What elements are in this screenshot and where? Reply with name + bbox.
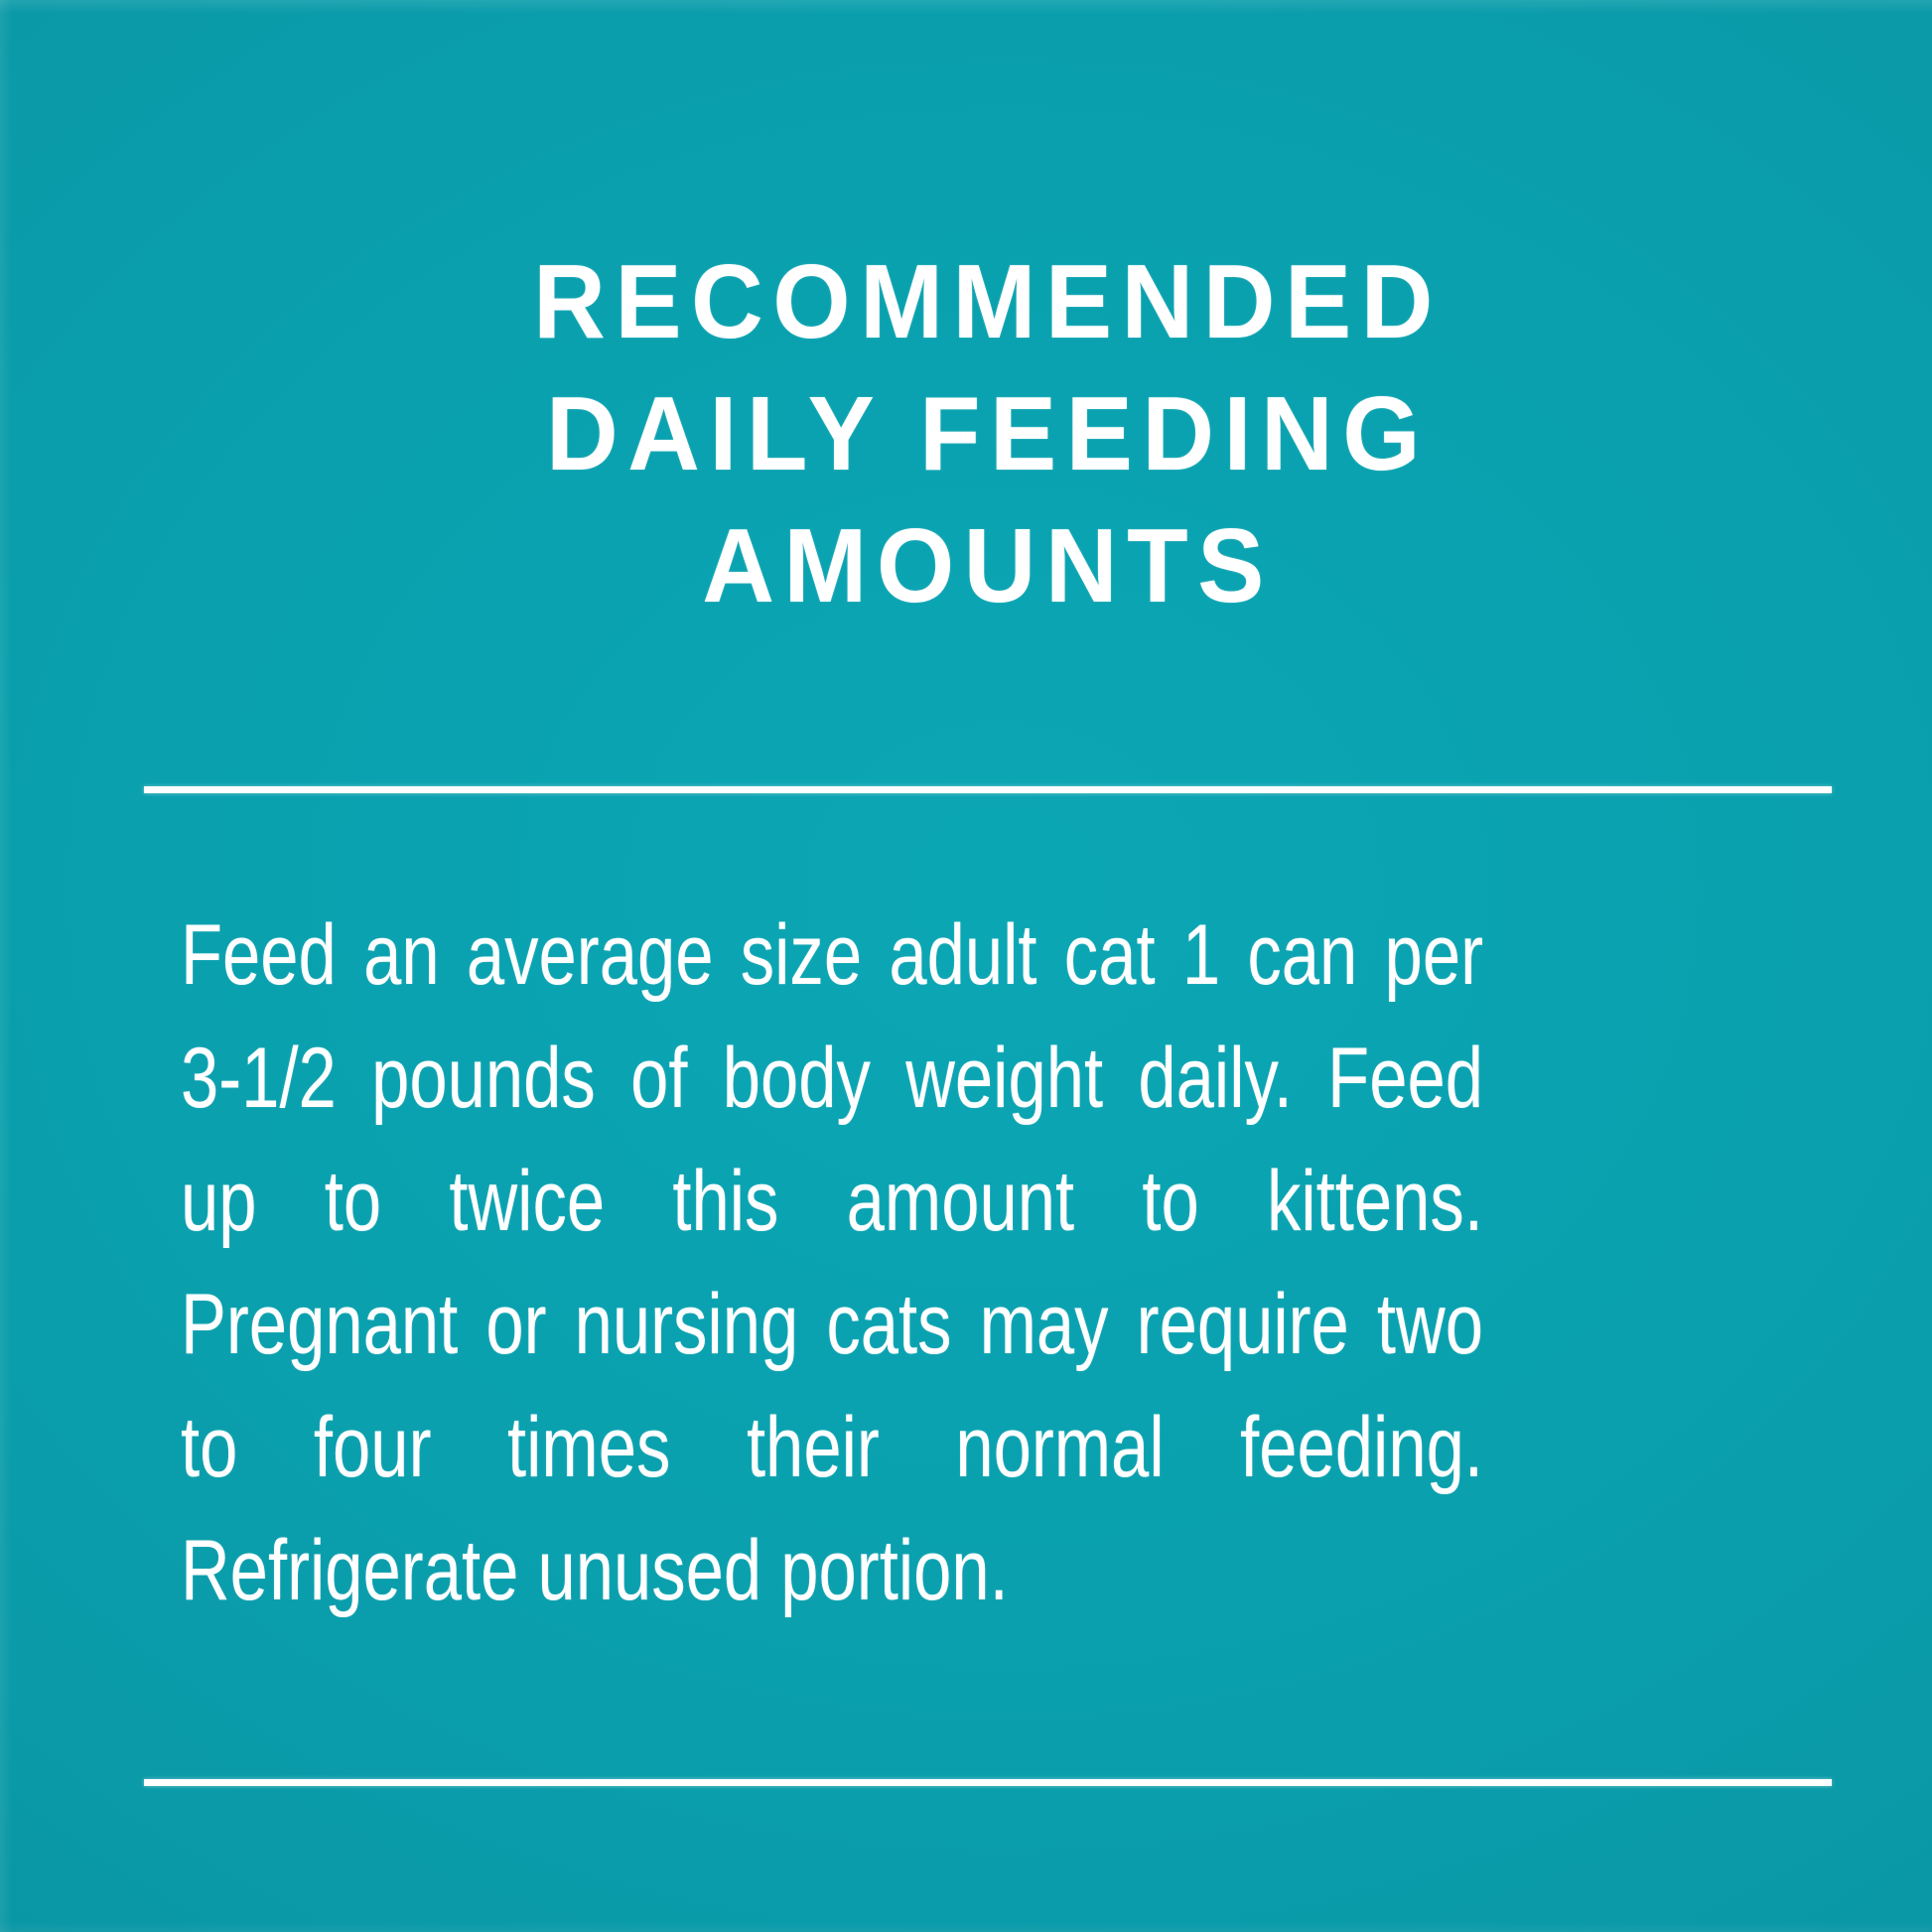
body-word: to	[181, 1386, 237, 1509]
body-word: 3-1/2	[181, 1017, 337, 1140]
body-word: 1	[1182, 894, 1220, 1017]
body-word: feeding.	[1240, 1386, 1483, 1509]
body-word: four	[314, 1386, 432, 1509]
body-word: weight	[905, 1017, 1103, 1140]
body-word: times	[507, 1386, 670, 1509]
body-word: average	[467, 894, 714, 1017]
body-word: of	[630, 1017, 687, 1140]
page-title-line-1: RECOMMENDED	[187, 236, 1790, 368]
body-line: uptotwicethisamounttokittens.	[181, 1140, 1483, 1263]
body-line: Pregnantornursingcatsmayrequiretwo	[181, 1263, 1483, 1386]
body-line: Refrigerate unused portion.	[181, 1509, 1483, 1632]
body-word: kittens.	[1267, 1140, 1483, 1263]
body-word: two	[1377, 1263, 1483, 1386]
body-word: require	[1137, 1263, 1349, 1386]
body-word: Feed	[1327, 1017, 1483, 1140]
body-word: Feed	[181, 894, 337, 1017]
body-word: an	[363, 894, 440, 1017]
body-word: adult	[889, 894, 1036, 1017]
body-word: amount	[847, 1140, 1074, 1263]
top-divider-rule	[144, 786, 1832, 793]
body-word: to	[1142, 1140, 1198, 1263]
body-word: twice	[449, 1140, 605, 1263]
body-word: pounds	[371, 1017, 596, 1140]
page-title-line-2: DAILY FEEDING	[187, 368, 1790, 500]
body-word: Pregnant	[181, 1263, 458, 1386]
body-word: size	[741, 894, 862, 1017]
body-word: cats	[826, 1263, 951, 1386]
bottom-divider-rule	[144, 1779, 1832, 1786]
body-word: their	[747, 1386, 880, 1509]
body-word: may	[980, 1263, 1109, 1386]
body-word: per	[1385, 894, 1483, 1017]
feeding-instructions-text: Feedanaveragesizeadultcat1canper3-1/2pou…	[181, 894, 1483, 1632]
body-line: Feedanaveragesizeadultcat1canper	[181, 894, 1483, 1017]
body-word: body	[723, 1017, 871, 1140]
body-word: cat	[1064, 894, 1156, 1017]
body-line: 3-1/2poundsofbodyweightdaily.Feed	[181, 1017, 1483, 1140]
body-word: daily.	[1138, 1017, 1293, 1140]
body-word: nursing	[575, 1263, 799, 1386]
page-title-line-3: AMOUNTS	[187, 500, 1790, 632]
feeding-instructions-panel: RECOMMENDED DAILY FEEDING AMOUNTS Feedan…	[0, 0, 1932, 1932]
body-word: up	[181, 1140, 257, 1263]
body-line: tofourtimestheirnormalfeeding.	[181, 1386, 1483, 1509]
page-title: RECOMMENDED DAILY FEEDING AMOUNTS	[187, 236, 1790, 632]
body-word: to	[325, 1140, 381, 1263]
body-word: can	[1247, 894, 1357, 1017]
body-word: or	[485, 1263, 546, 1386]
panel-content: RECOMMENDED DAILY FEEDING AMOUNTS Feedan…	[0, 0, 1932, 1932]
body-word: normal	[955, 1386, 1164, 1509]
body-word: this	[672, 1140, 778, 1263]
